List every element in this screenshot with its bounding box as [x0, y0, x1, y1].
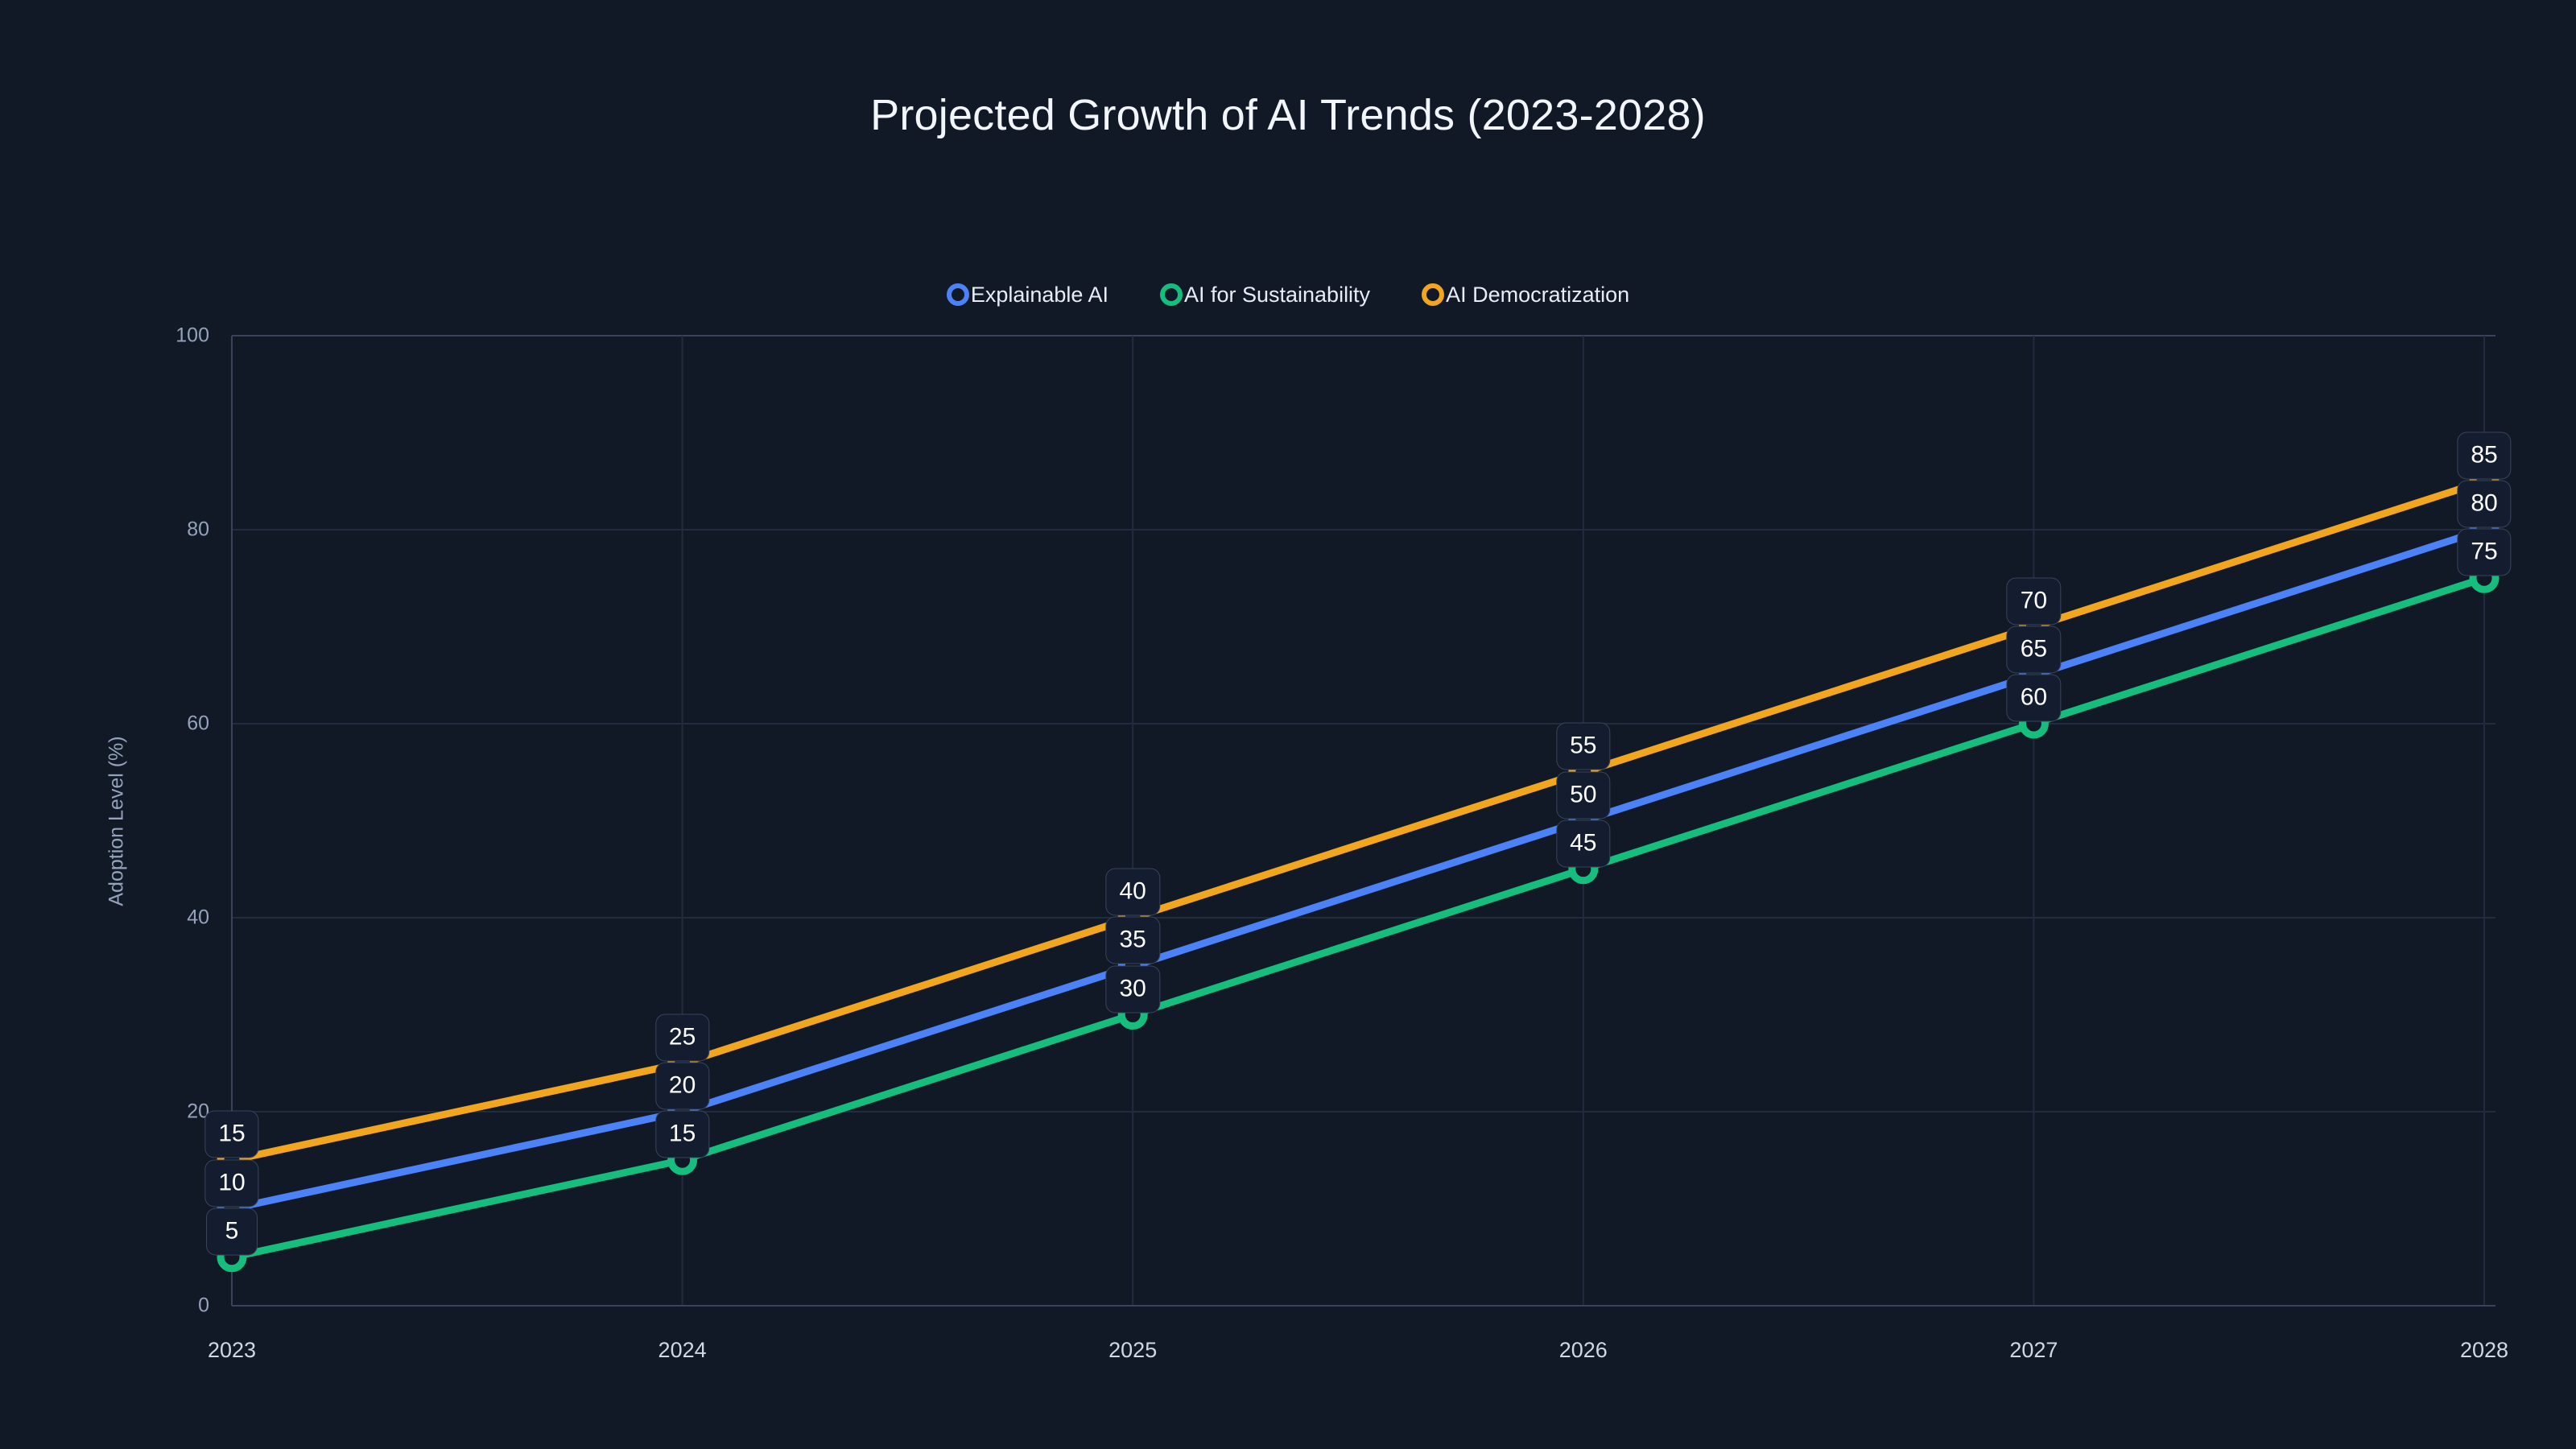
data-point-label: 65	[2007, 625, 2061, 673]
data-point-label: 60	[2007, 675, 2061, 722]
x-tick-label: 2025	[1108, 1338, 1157, 1363]
data-point-label: 75	[2457, 529, 2511, 576]
data-point-label: 45	[1556, 819, 1610, 867]
y-tick-label: 80	[145, 518, 209, 542]
y-tick-label: 40	[145, 906, 209, 930]
data-point-label: 50	[1556, 771, 1610, 819]
data-point-label: 25	[655, 1013, 709, 1061]
data-point-label: 20	[655, 1063, 709, 1110]
chart-canvas: Projected Growth of AI Trends (2023-2028…	[0, 0, 2576, 1449]
data-point-label: 70	[2007, 577, 2061, 625]
data-point-label: 40	[1106, 869, 1160, 916]
x-tick-label: 2023	[208, 1338, 256, 1363]
x-tick-label: 2027	[2009, 1338, 2058, 1363]
data-point-label: 85	[2457, 431, 2511, 479]
x-tick-label: 2026	[1559, 1338, 1608, 1363]
x-tick-label: 2028	[2460, 1338, 2508, 1363]
y-axis-title: Adoption Level (%)	[105, 700, 129, 942]
data-point-label: 10	[204, 1159, 258, 1207]
series-line	[232, 530, 2484, 1209]
data-point-label: 35	[1106, 917, 1160, 964]
data-point-label: 5	[206, 1207, 258, 1255]
data-point-label: 15	[204, 1111, 258, 1158]
data-point-label: 55	[1556, 723, 1610, 770]
x-tick-label: 2024	[658, 1338, 707, 1363]
y-tick-label: 60	[145, 712, 209, 736]
y-tick-label: 0	[145, 1294, 209, 1318]
data-point-label: 15	[655, 1111, 709, 1158]
plot-area	[0, 0, 2576, 1449]
y-tick-label: 20	[145, 1100, 209, 1124]
series-lines	[232, 481, 2484, 1257]
y-tick-label: 100	[145, 324, 209, 348]
data-point-label: 80	[2457, 481, 2511, 528]
axis-lines	[232, 336, 2495, 1306]
data-point-label: 30	[1106, 965, 1160, 1013]
grid-lines	[232, 336, 2495, 1306]
series-line	[232, 481, 2484, 1161]
